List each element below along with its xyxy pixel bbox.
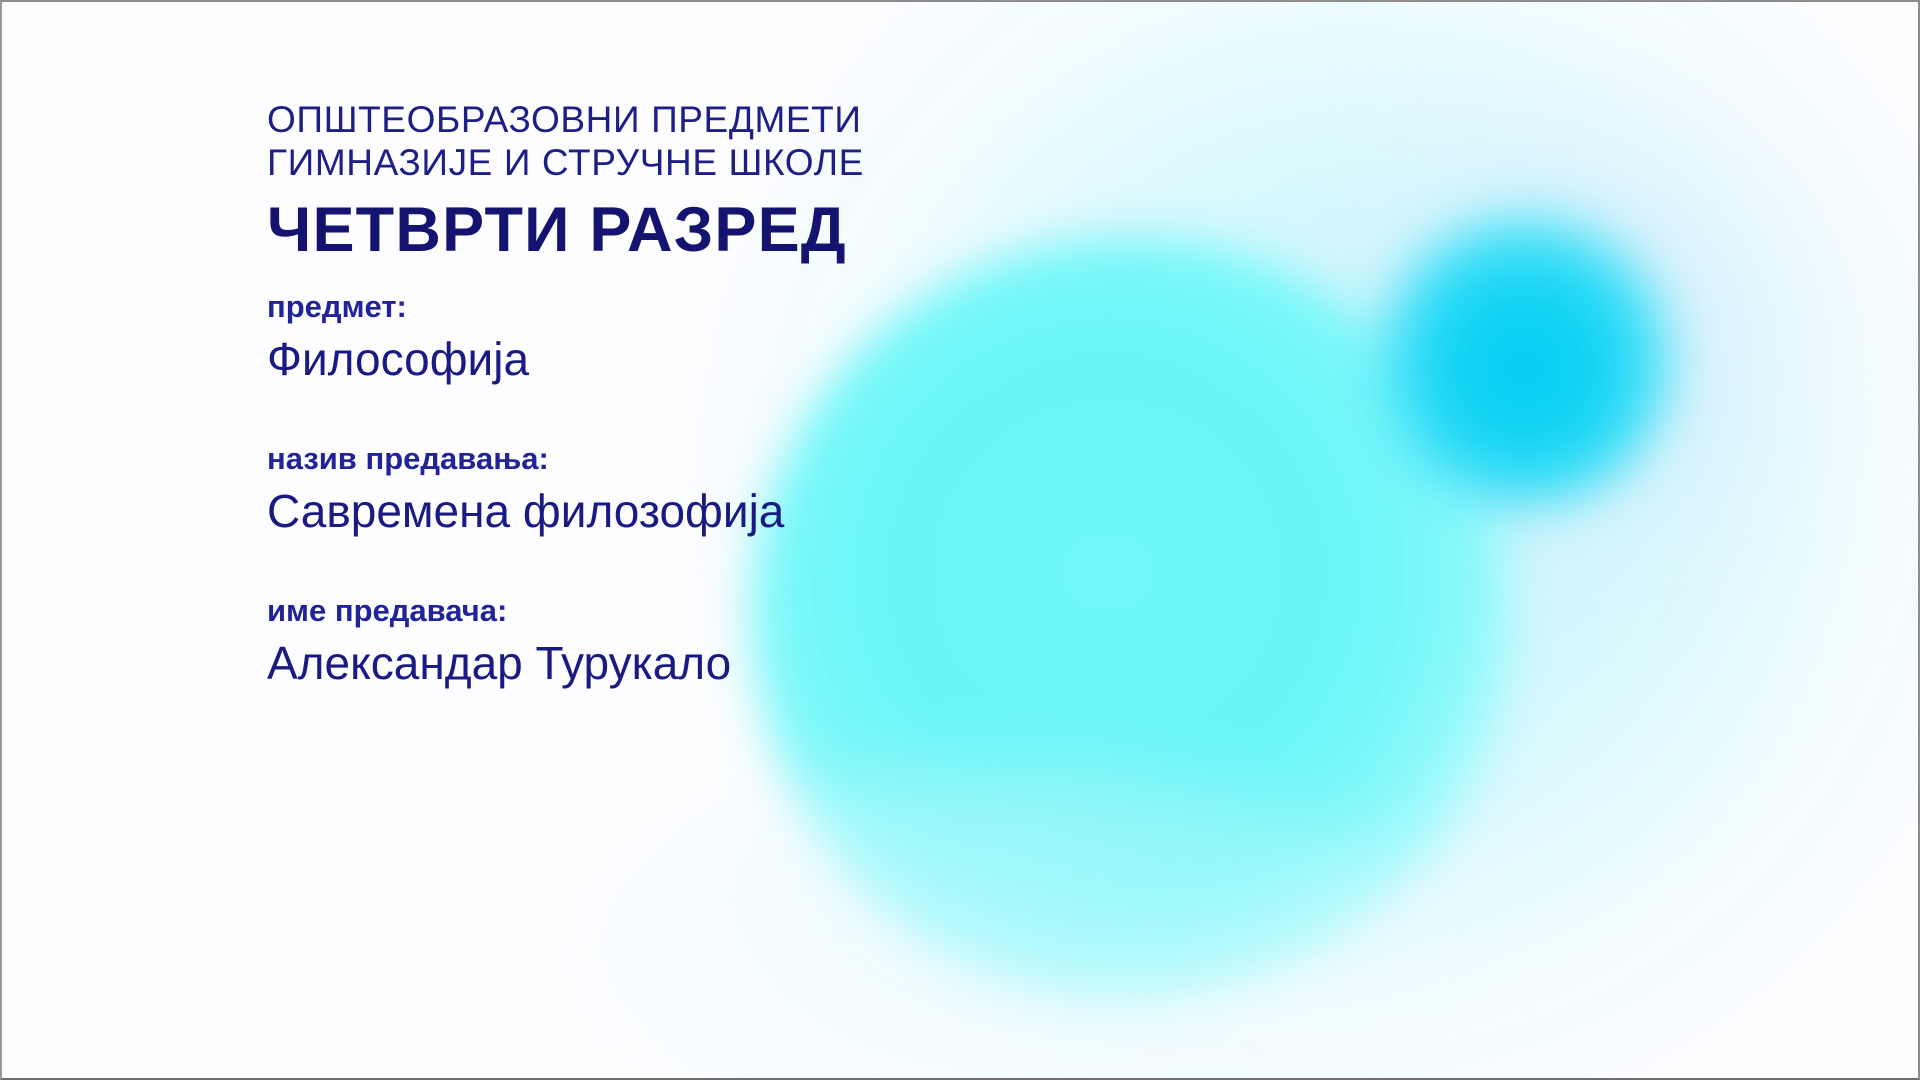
field-lecturer-value: Александар Турукало xyxy=(267,634,1267,692)
field-lecture-title: назив предавања: Савремена филозофија xyxy=(267,440,1267,540)
title-text-block: ОПШТЕОБРАЗОВНИ ПРЕДМЕТИ ГИМНАЗИЈЕ И СТРУ… xyxy=(267,98,1267,692)
azure-accent-blob xyxy=(1374,210,1674,510)
eyebrow-line-1: ОПШТЕОБРАЗОВНИ ПРЕДМЕТИ xyxy=(267,98,1267,141)
lesson-title-card: ОПШТЕОБРАЗОВНИ ПРЕДМЕТИ ГИМНАЗИЈЕ И СТРУ… xyxy=(0,0,1920,1080)
field-subject-value: Философија xyxy=(267,330,1267,388)
field-subject: предмет: Философија xyxy=(267,288,1267,388)
violet-wash-blob xyxy=(1302,62,1862,622)
lower-glow-blob xyxy=(562,762,1462,1080)
field-lecture-title-label: назив предавања: xyxy=(267,440,1267,478)
field-lecturer: име предавача: Александар Турукало xyxy=(267,592,1267,692)
field-subject-label: предмет: xyxy=(267,288,1267,326)
eyebrow-line-2: ГИМНАЗИЈЕ И СТРУЧНЕ ШКОЛЕ xyxy=(267,141,1267,184)
page-title: ЧЕТВРТИ РАЗРЕД xyxy=(267,194,1267,266)
field-lecturer-label: име предавача: xyxy=(267,592,1267,630)
field-lecture-title-value: Савремена филозофија xyxy=(267,482,1267,540)
